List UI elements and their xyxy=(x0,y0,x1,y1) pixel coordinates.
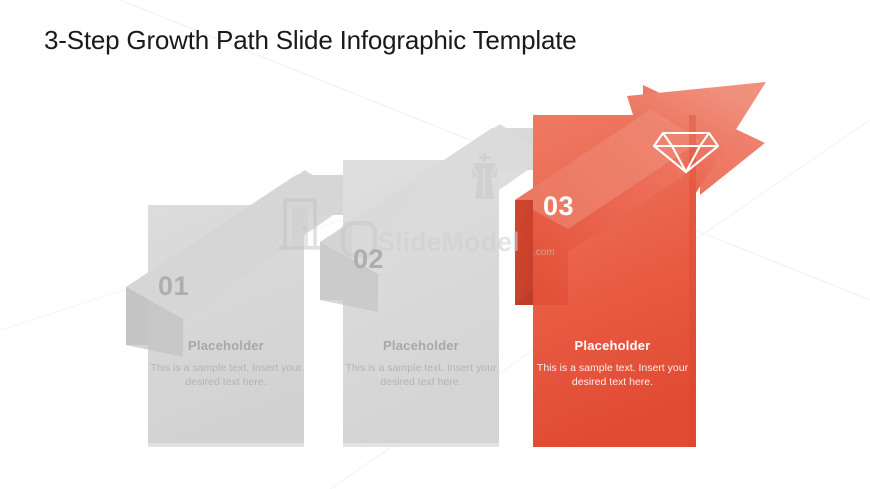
slide-canvas: 3-Step Growth Path Slide Infographic Tem… xyxy=(0,0,870,489)
step-3-fold xyxy=(515,200,533,305)
door-icon xyxy=(279,200,321,250)
step-3-group[interactable] xyxy=(515,82,766,447)
step-1-group[interactable] xyxy=(126,170,352,447)
step-2-shadow xyxy=(343,443,499,447)
step-2-notch xyxy=(320,224,352,300)
step-1-shadow xyxy=(148,443,304,447)
step-2-group[interactable] xyxy=(320,124,548,447)
growth-path-infographic xyxy=(0,0,870,489)
